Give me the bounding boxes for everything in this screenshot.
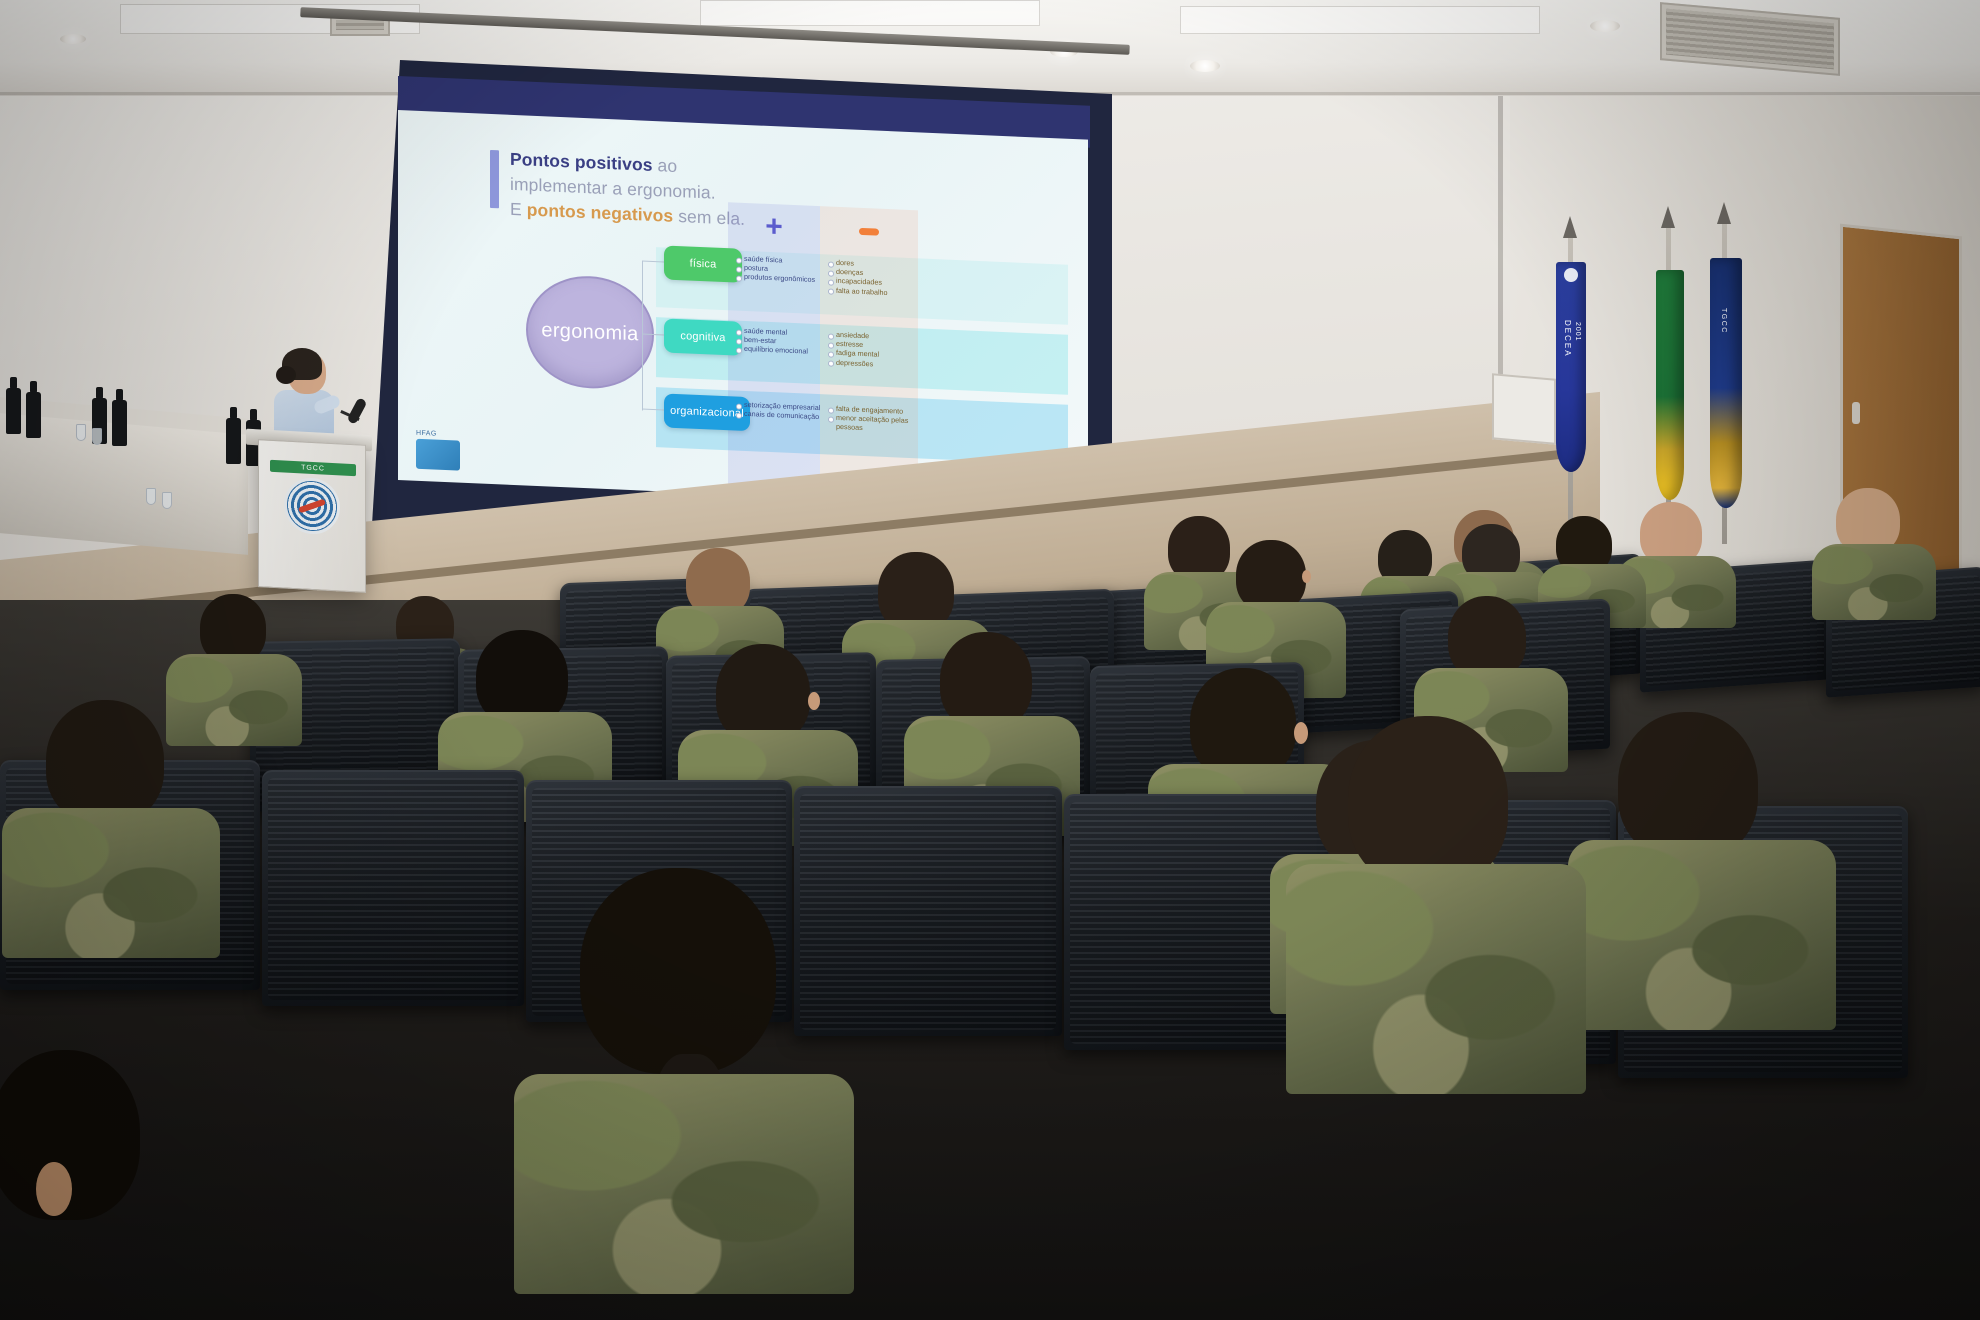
- hfag-logo-tag: HFAG: [416, 430, 437, 438]
- category-chip-fisica: física: [664, 245, 742, 282]
- slide-title-strong-3: pontos negativos: [527, 200, 673, 226]
- head: [580, 868, 776, 1074]
- category-label: cognitiva: [680, 330, 725, 344]
- ergonomia-node: ergonomia: [526, 274, 654, 392]
- flag-text-tgcc: TGCC: [1720, 308, 1727, 334]
- glass: [146, 488, 156, 505]
- flag-cloth-brasil: [1656, 270, 1684, 500]
- bottle: [26, 392, 41, 438]
- ergonomia-label: ergonomia: [541, 319, 638, 346]
- auditorium-scene: Pontos positivos ao implementar a ergono…: [0, 0, 1980, 1320]
- head: [1348, 716, 1508, 888]
- wall-control-panel[interactable]: [1492, 373, 1556, 445]
- chair[interactable]: [794, 786, 1062, 1036]
- presentation-slide: Pontos positivos ao implementar a ergono…: [398, 110, 1088, 510]
- slide-title-strong-1: Pontos positivos: [510, 149, 653, 175]
- negatives-organizacional: falta de engajamento menor aceitação pel…: [828, 404, 914, 435]
- door-handle-icon[interactable]: [1852, 402, 1860, 424]
- head: [1618, 712, 1758, 860]
- ceiling-panel: [700, 0, 1040, 26]
- positives-cognitiva: saúde mental bem-estar equilíbrio emocio…: [736, 327, 822, 358]
- ceiling-light: [1190, 60, 1220, 72]
- connector-branch-organizacional: [642, 408, 664, 410]
- glass: [162, 492, 172, 509]
- flag-year-decea: 2001: [1574, 322, 1581, 342]
- shoulders: [2, 808, 220, 958]
- shoulders: [1568, 840, 1836, 1030]
- category-label: organizacional: [670, 405, 744, 420]
- category-label: física: [690, 258, 717, 271]
- glass: [92, 428, 102, 445]
- connector-trunk: [642, 260, 643, 410]
- flag-finial-icon: [1563, 216, 1577, 238]
- ear: [1294, 722, 1308, 744]
- hfag-logo: HFAG: [416, 439, 460, 471]
- head: [46, 700, 164, 824]
- shoulders: [166, 654, 302, 746]
- shoulders: [514, 1074, 854, 1294]
- category-chip-cognitiva: cognitiva: [664, 318, 742, 355]
- slide-title-prefix-3: E: [510, 199, 527, 220]
- bottle: [6, 388, 21, 434]
- minus-icon: [859, 227, 879, 235]
- bottle: [112, 400, 127, 446]
- shoulders: [1812, 544, 1936, 620]
- positives-fisica: saúde física postura produtos ergonômico…: [736, 255, 822, 286]
- flag-finial-icon: [1717, 202, 1731, 224]
- flag-cloth-tgcc: TGCC: [1710, 258, 1742, 508]
- head: [716, 644, 810, 744]
- ear: [36, 1162, 72, 1216]
- ear: [1302, 570, 1311, 583]
- header-negative: [820, 206, 918, 256]
- presenter-hair-bun: [276, 366, 296, 384]
- flag-roundel-icon: [1564, 268, 1578, 282]
- list-item: menor aceitação pelas pessoas: [828, 414, 914, 435]
- glass: [76, 424, 86, 441]
- slide-title-rest-1: ao: [653, 155, 678, 176]
- negatives-cognitiva: ansiedade estresse fadiga mental depress…: [828, 330, 914, 370]
- ear: [808, 692, 820, 710]
- ceiling-panel: [1180, 6, 1540, 34]
- shoulders: [1286, 864, 1586, 1094]
- podium-label-text: TGCC: [301, 464, 325, 472]
- chair[interactable]: [262, 770, 524, 1006]
- ceiling-light: [1590, 20, 1620, 32]
- flag-text-decea: DECEA: [1563, 320, 1572, 358]
- plus-icon: +: [765, 214, 783, 241]
- header-positive: +: [728, 202, 820, 252]
- title-accent-bar: [490, 150, 499, 208]
- flag-cloth-decea: DECEA 2001: [1556, 262, 1586, 472]
- slide-title-line-2: implementar a ergonomia.: [510, 174, 716, 203]
- flag-finial-icon: [1661, 206, 1675, 228]
- positives-organizacional: setorização empresarial canais de comuni…: [736, 401, 822, 423]
- bottle: [226, 418, 241, 464]
- connector-branch-fisica: [642, 260, 664, 262]
- ceiling-light: [60, 34, 86, 44]
- negatives-fisica: dores doenças incapacidades falta ao tra…: [828, 258, 914, 298]
